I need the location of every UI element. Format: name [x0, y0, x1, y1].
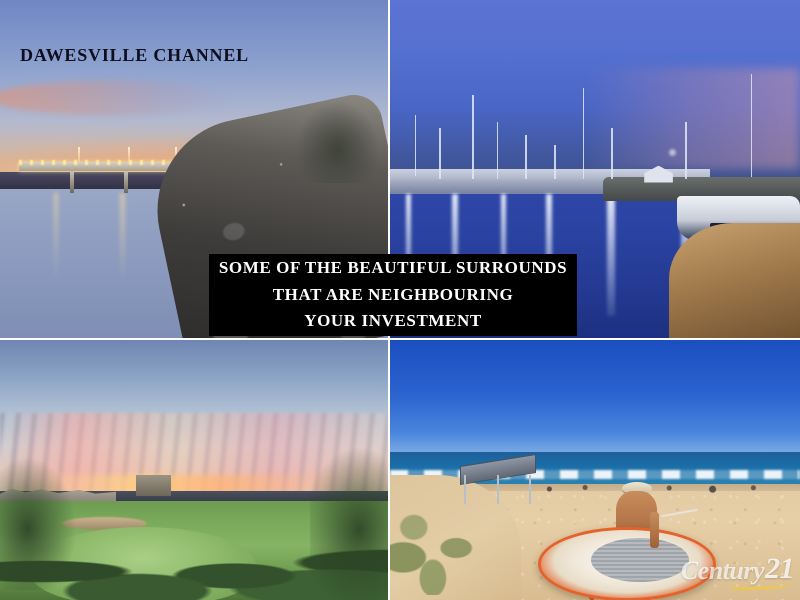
- yacht-mast: [472, 95, 474, 180]
- coastal-shrub: [295, 101, 380, 182]
- apartment-towers: [136, 475, 171, 496]
- bridge-pier: [70, 171, 74, 193]
- slide-canvas: DAWESVILLE CHANNEL PORT BOUVARD: [0, 0, 800, 600]
- photo-avalon-beach: AVALON BEACH: [390, 340, 800, 600]
- light-pole: [685, 122, 687, 179]
- yacht-mast: [415, 115, 417, 176]
- timber-jetty: [669, 223, 800, 338]
- yacht-mast: [554, 145, 556, 179]
- surfer-arm: [650, 512, 659, 548]
- board-deck-pad: [591, 538, 689, 582]
- light-reflection: [54, 193, 58, 281]
- caption-line-1: SOME OF THE BEAUTIFUL SURROUNDS: [219, 256, 567, 281]
- horizontal-divider-right: [390, 338, 800, 340]
- bridge-pier: [124, 171, 128, 193]
- beachgoers: [529, 483, 783, 493]
- beach-shelter-leg: [464, 475, 466, 504]
- cloud-band: [0, 81, 225, 115]
- photo-label-dawesville-channel: DAWESVILLE CHANNEL: [20, 45, 249, 66]
- yacht-mast: [497, 122, 499, 179]
- light-pole: [611, 128, 613, 179]
- moon: [669, 149, 676, 156]
- caption-line-3: YOUR INVESTMENT: [304, 309, 482, 334]
- yacht-mast: [525, 135, 527, 179]
- yacht-mast: [583, 88, 585, 179]
- yacht-mast: [751, 74, 753, 182]
- blue-sky: [390, 340, 800, 457]
- light-reflection: [120, 193, 125, 281]
- foreground-bush: [310, 444, 388, 600]
- water-light-reflection: [607, 194, 615, 316]
- foreground-bush: [0, 454, 78, 589]
- dusk-clouds: [587, 68, 800, 169]
- dune-grass: [390, 501, 488, 595]
- bridge-lamp: [78, 147, 80, 162]
- center-caption-banner: SOME OF THE BEAUTIFUL SURROUNDS THAT ARE…: [209, 254, 577, 336]
- bridge-lamp: [128, 147, 130, 162]
- horizontal-divider-left: [0, 338, 388, 340]
- beach-shelter-leg: [497, 475, 499, 504]
- caption-line-2: THAT ARE NEIGHBOURING: [273, 283, 514, 308]
- photo-the-cut-golf-course: THE "CUT" GOLF COURSE: [0, 340, 388, 600]
- yacht-mast: [439, 128, 441, 179]
